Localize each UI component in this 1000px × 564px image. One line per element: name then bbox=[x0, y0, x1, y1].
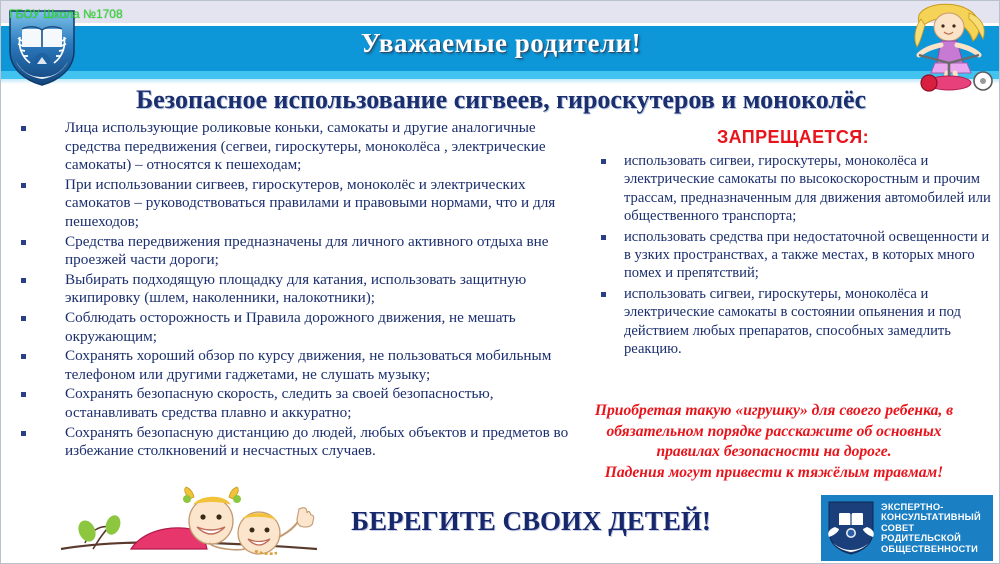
council-line-1: ЭКСПЕРТНО- bbox=[881, 502, 981, 513]
rules-list: Лица использующие роликовые коньки, само… bbox=[15, 119, 585, 461]
list-item: использовать средства при недостаточной … bbox=[593, 228, 993, 283]
list-item: использовать сигвеи, гироскутеры, моноко… bbox=[593, 152, 993, 226]
safety-poster: Уважаемые родители! bbox=[0, 0, 1000, 564]
council-line-4: РОДИТЕЛЬСКОЙ bbox=[881, 533, 981, 544]
two-children-illustration bbox=[59, 483, 321, 564]
council-line-3: СОВЕТ bbox=[881, 523, 981, 534]
council-line-2: КОНСУЛЬТАТИВНЫЙ bbox=[881, 512, 981, 523]
callout-line-3: правилах безопасности на дороге. bbox=[549, 442, 999, 463]
list-item: использовать сигвеи, гироскутеры, моноко… bbox=[593, 285, 993, 359]
list-item: Соблюдать осторожность и Правила дорожно… bbox=[15, 309, 585, 346]
parent-advice-callout: Приобретая такую «игрушку» для своего ре… bbox=[549, 401, 999, 483]
girl-on-segway-illustration bbox=[891, 1, 997, 93]
callout-line-1: Приобретая такую «игрушку» для своего ре… bbox=[549, 401, 999, 422]
prohibited-list: использовать сигвеи, гироскутеры, моноко… bbox=[593, 152, 993, 358]
footer-slogan: БЕРЕГИТЕ СВОИХ ДЕТЕЙ! bbox=[321, 506, 741, 537]
header-cyan-strip bbox=[1, 71, 1000, 79]
banner-title: Уважаемые родители! bbox=[1, 28, 1000, 59]
school-name-watermark: ГБОУ Школа №1708 bbox=[9, 7, 123, 21]
council-badge-text: ЭКСПЕРТНО- КОНСУЛЬТАТИВНЫЙ СОВЕТ РОДИТЕЛ… bbox=[877, 502, 981, 555]
header-top-strip bbox=[1, 1, 1000, 24]
list-item: Средства передвижения предназначены для … bbox=[15, 233, 585, 270]
callout-line-4: Падения могут привести к тяжёлым травмам… bbox=[549, 463, 999, 484]
list-item: Лица использующие роликовые коньки, само… bbox=[15, 119, 585, 175]
list-item: При использовании сигвеев, гироскутеров,… bbox=[15, 176, 585, 232]
list-item: Сохранять безопасную скорость, следить з… bbox=[15, 385, 585, 422]
list-item: Выбирать подходящую площадку для катания… bbox=[15, 271, 585, 308]
page-title: Безопасное использование сигвеев, гироск… bbox=[1, 85, 1000, 115]
list-item: Сохранять безопасную дистанцию до людей,… bbox=[15, 424, 585, 461]
rules-column: Лица использующие роликовые коньки, само… bbox=[15, 119, 585, 462]
prohibited-column: ЗАПРЕЩАЕТСЯ: использовать сигвеи, гироск… bbox=[593, 127, 993, 360]
header-fade-strip bbox=[1, 79, 1000, 84]
council-emblem-icon bbox=[825, 499, 877, 557]
prohibited-heading: ЗАПРЕЩАЕТСЯ: bbox=[593, 127, 993, 148]
council-badge: ЭКСПЕРТНО- КОНСУЛЬТАТИВНЫЙ СОВЕТ РОДИТЕЛ… bbox=[821, 495, 993, 561]
list-item: Сохранять хороший обзор по курсу движени… bbox=[15, 347, 585, 384]
callout-line-2: обязательном порядке расскажите об основ… bbox=[549, 422, 999, 443]
council-line-5: ОБЩЕСТВЕННОСТИ bbox=[881, 544, 981, 555]
